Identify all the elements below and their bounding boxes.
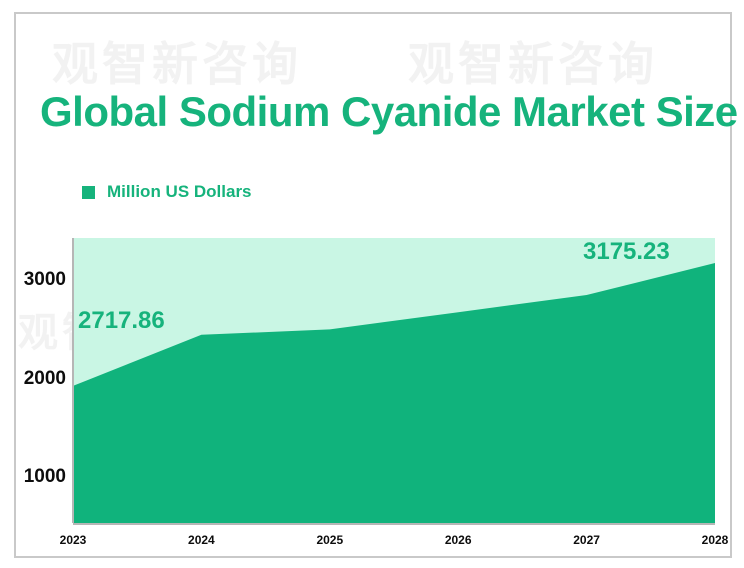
y-axis-tick-label: 2000 — [6, 368, 66, 390]
square-marker-icon — [82, 186, 95, 199]
x-axis-tick-label: 2027 — [573, 533, 600, 547]
watermark-text: 观智新咨询 — [408, 28, 658, 94]
y-axis-tick-labels: 100020003000 — [0, 0, 66, 568]
x-axis-tick-label: 2023 — [60, 533, 87, 547]
data-label-last: 3175.23 — [583, 238, 670, 266]
x-axis-tick-label: 2025 — [316, 533, 343, 547]
legend-item-label: Million US Dollars — [107, 182, 252, 202]
chart-title: Global Sodium Cyanide Market Size — [40, 88, 738, 136]
x-axis-tick-label: 2028 — [702, 533, 729, 547]
area-series-shape — [73, 263, 715, 523]
x-axis-tick-label: 2026 — [445, 533, 472, 547]
chart-card: 观智新咨询 观智新咨询 观智 观智新 观智新 Global Sodium Cya… — [0, 0, 744, 568]
x-axis-line — [73, 523, 715, 525]
x-axis-tick-label: 2024 — [188, 533, 215, 547]
y-axis-tick-label: 3000 — [6, 269, 66, 291]
chart-legend: Million US Dollars — [82, 182, 252, 202]
watermark-text: 观智新咨询 — [52, 28, 302, 94]
plot-area — [73, 238, 715, 523]
y-axis-line — [72, 238, 74, 523]
area-chart-svg — [73, 238, 715, 523]
y-axis-tick-label: 1000 — [6, 466, 66, 488]
data-label-first: 2717.86 — [78, 307, 165, 335]
x-axis-tick-labels: 202320242025202620272028 — [73, 533, 715, 553]
